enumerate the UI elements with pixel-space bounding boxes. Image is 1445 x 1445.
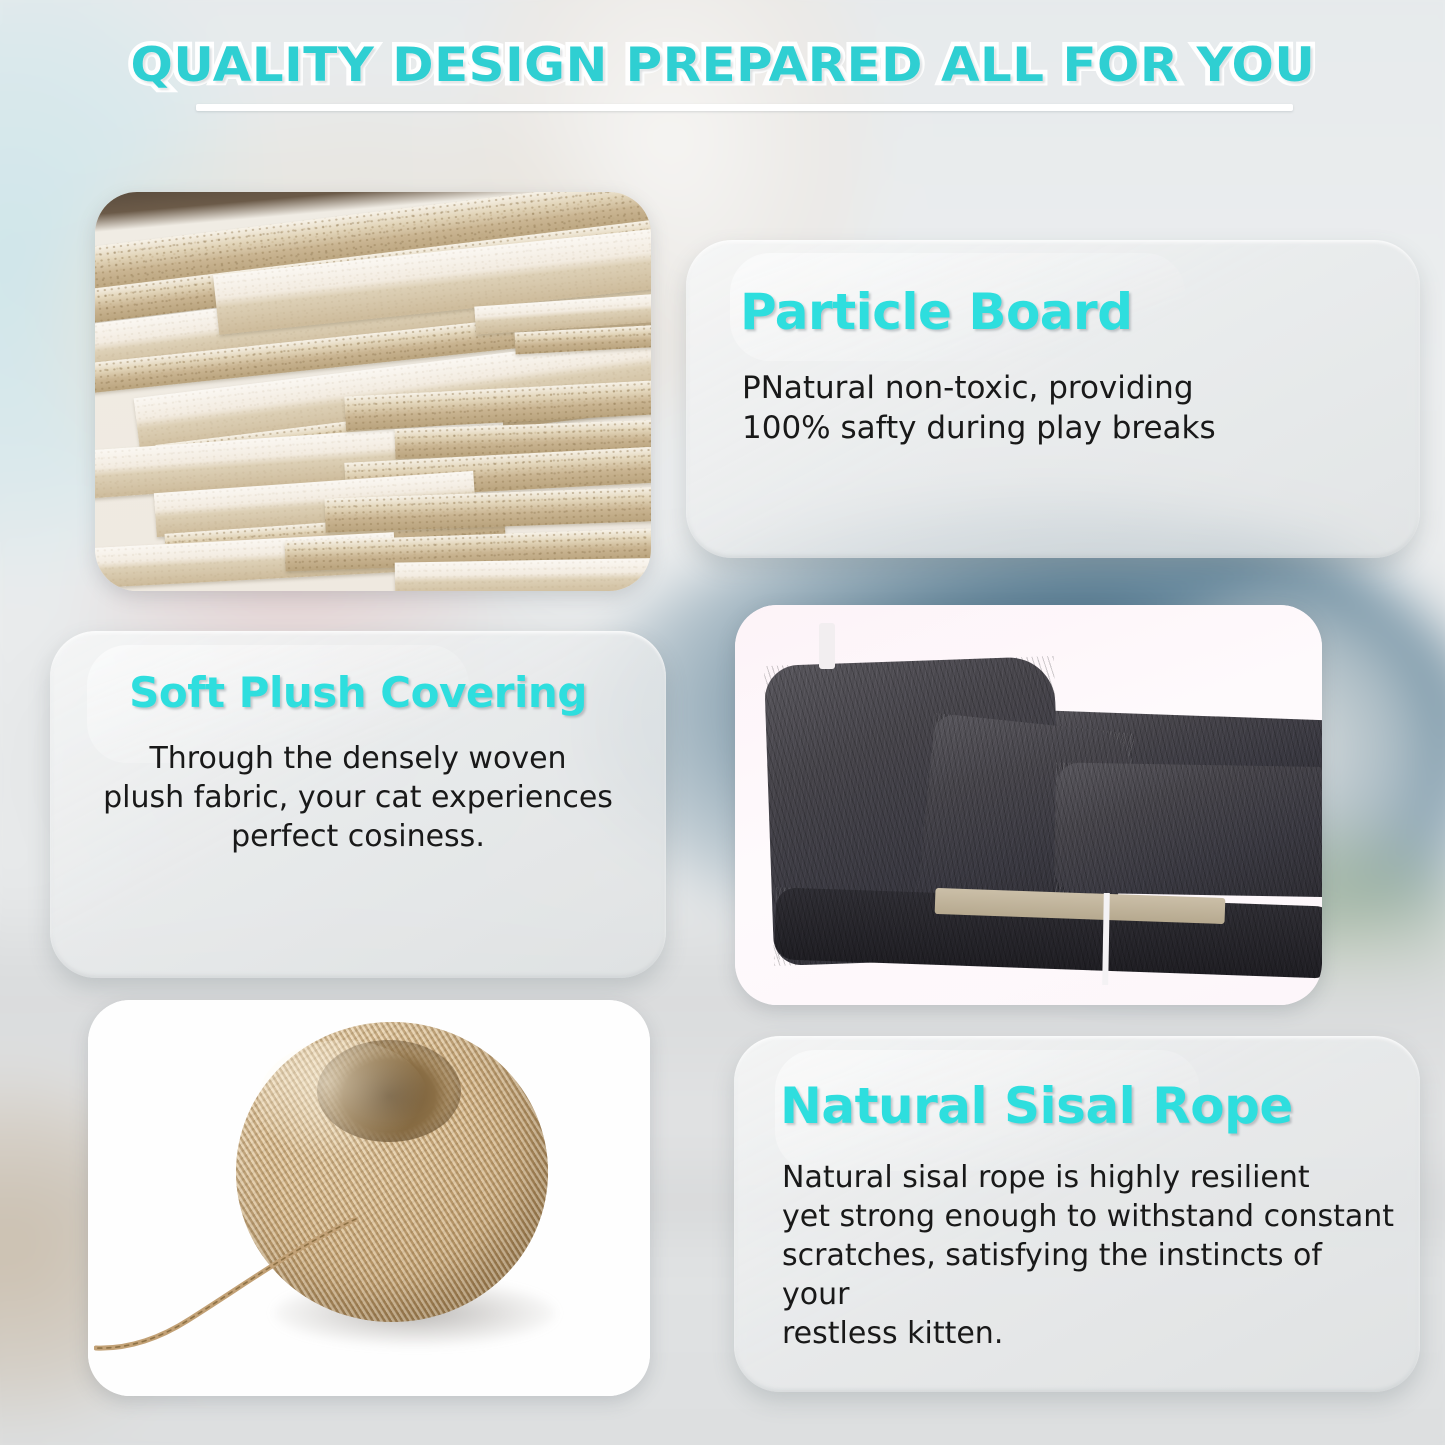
feature-card-soft-plush: Soft Plush Covering Through the densely … [50,631,666,978]
plush-white-highlight [819,623,835,669]
header: QUALITY DESIGN PREPARED ALL FOR YOU [0,38,1445,93]
feature-body-particle-board: PNatural non-toxic, providing 100% safty… [742,368,1382,449]
feature-card-particle-board: Particle Board PNatural non-toxic, provi… [686,240,1420,558]
feature-heading-sisal-rope: Natural Sisal Rope [780,1080,1293,1133]
infographic-canvas: QUALITY DESIGN PREPARED ALL FOR YOU [0,0,1445,1445]
title-underline [196,104,1293,111]
feature-heading-soft-plush: Soft Plush Covering [50,671,666,715]
image-particle-board [95,192,651,591]
page-title: QUALITY DESIGN PREPARED ALL FOR YOU [130,38,1315,93]
feature-body-soft-plush: Through the densely woven plush fabric, … [78,739,638,856]
particle-board-scene [95,192,651,591]
feature-heading-particle-board: Particle Board [740,286,1133,339]
image-plush-fabric [735,605,1322,1005]
plush-side-roll [1054,762,1322,897]
feature-body-sisal-rope: Natural sisal rope is highly resilient y… [782,1158,1397,1353]
rope-loose-strand [94,1215,364,1365]
feature-card-sisal-rope: Natural Sisal Rope Natural sisal rope is… [734,1036,1420,1392]
image-sisal-rope [88,1000,650,1396]
